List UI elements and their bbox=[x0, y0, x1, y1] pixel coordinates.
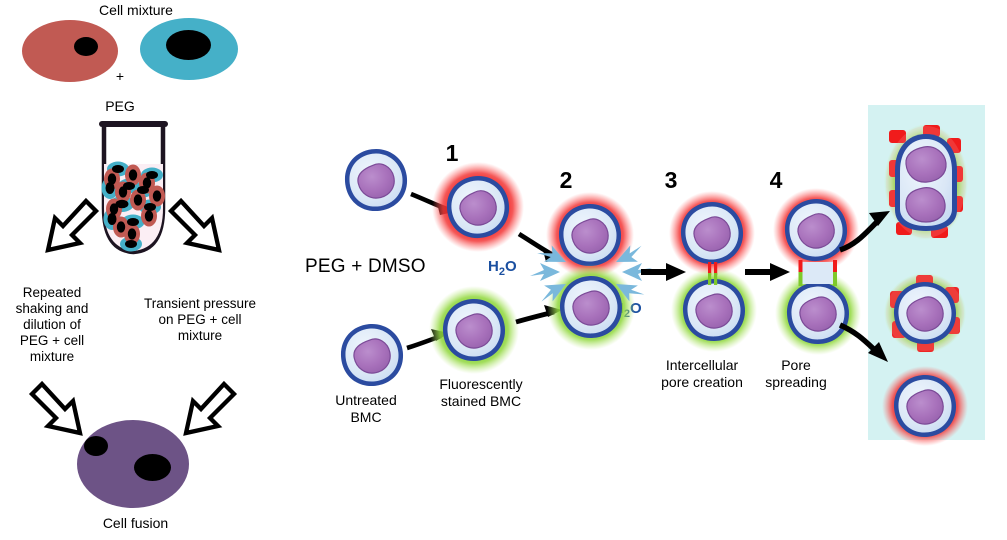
panel5-nucleus-2 bbox=[906, 188, 945, 222]
arrowhead-step2-step3 bbox=[666, 263, 686, 281]
figure-canvas: Cell mixture + PEG bbox=[0, 0, 1007, 540]
panel5-fused-binucleate-cell bbox=[884, 124, 968, 240]
arrowhead-step3-step4 bbox=[770, 263, 790, 281]
cell-step2-green bbox=[547, 264, 635, 350]
step2-group bbox=[530, 192, 652, 350]
panel5-red-halo-cell bbox=[882, 366, 968, 446]
pore-wide-bridge bbox=[799, 260, 838, 286]
cell-step1-red-halo bbox=[432, 162, 524, 252]
panel5-mixed-halo-cell bbox=[884, 273, 966, 353]
cell-stained-green-halo bbox=[429, 286, 519, 374]
cell-sequence-layer bbox=[0, 0, 1007, 540]
cell-step3-red bbox=[669, 191, 755, 275]
cell-step4-red bbox=[773, 188, 859, 272]
cell-untreated-bottom bbox=[338, 321, 406, 389]
panel5-nucleus-1 bbox=[906, 147, 946, 182]
cell-untreated-top bbox=[341, 145, 411, 215]
